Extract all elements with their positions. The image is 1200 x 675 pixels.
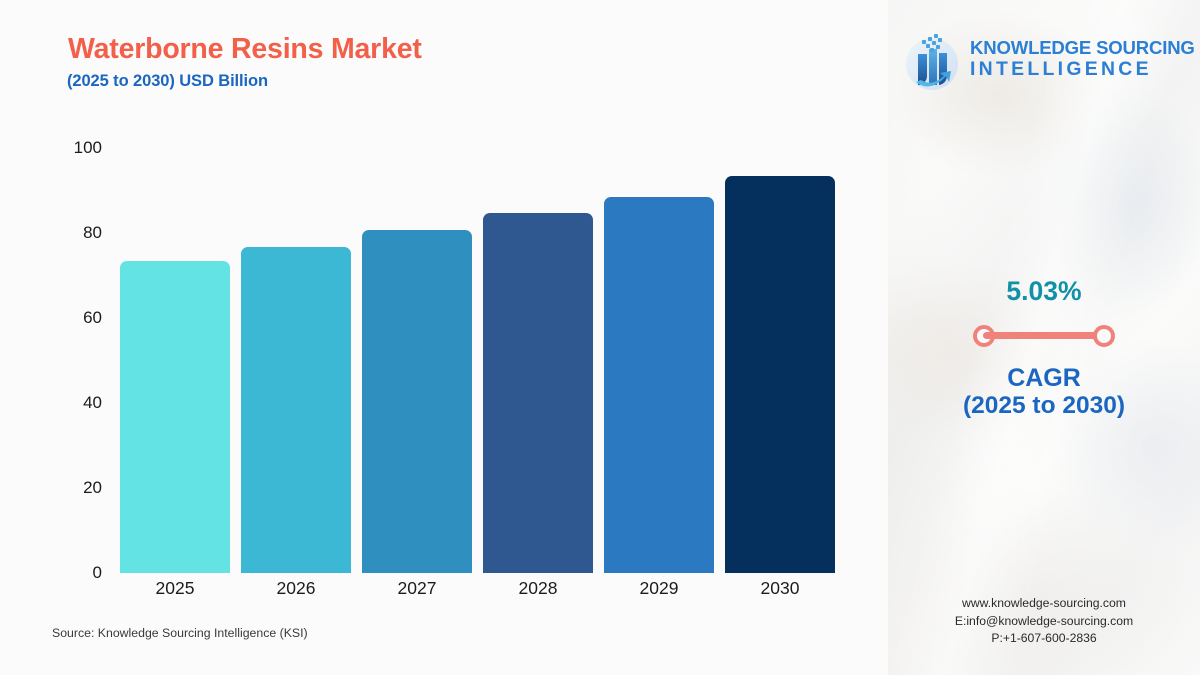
brand-name-line1: KNOWLEDGE SOURCING — [970, 38, 1192, 59]
x-axis-tick-label: 2028 — [483, 578, 593, 599]
chart-panel: Waterborne Resins Market (2025 to 2030) … — [0, 0, 888, 675]
infographic-canvas: Waterborne Resins Market (2025 to 2030) … — [0, 0, 1200, 675]
brand-name: KNOWLEDGE SOURCING INTELLIGENCE — [970, 38, 1192, 81]
brand-panel: KNOWLEDGE SOURCING INTELLIGENCE 5.03% CA… — [888, 0, 1200, 675]
bar — [604, 197, 714, 573]
x-axis-tick-label: 2026 — [241, 578, 351, 599]
x-axis-tick-label: 2027 — [362, 578, 472, 599]
bar — [120, 261, 230, 573]
brand-logo: KNOWLEDGE SOURCING INTELLIGENCE — [900, 28, 1192, 100]
cagr-block: 5.03% CAGR (2025 to 2030) — [888, 278, 1200, 420]
y-axis-tick-label: 0 — [42, 563, 102, 583]
x-axis-tick-label: 2029 — [604, 578, 714, 599]
brand-name-line2: INTELLIGENCE — [970, 59, 1192, 81]
bar — [725, 176, 835, 573]
y-axis-tick-label: 80 — [42, 223, 102, 243]
contact-block: www.knowledge-sourcing.com E:info@knowle… — [888, 595, 1200, 648]
x-axis-tick-label: 2025 — [120, 578, 230, 599]
cagr-value: 5.03% — [888, 278, 1200, 305]
bar — [483, 213, 593, 573]
y-axis-tick-label: 20 — [42, 478, 102, 498]
contact-email[interactable]: E:info@knowledge-sourcing.com — [888, 613, 1200, 631]
connector-dot-right — [1093, 325, 1115, 347]
contact-website[interactable]: www.knowledge-sourcing.com — [888, 595, 1200, 613]
y-axis-tick-label: 40 — [42, 393, 102, 413]
contact-phone: P:+1-607-600-2836 — [888, 630, 1200, 648]
y-axis: 020406080100 — [42, 0, 102, 675]
bar-chart-plot: 020406080100 202520262027202820292030 — [0, 0, 888, 675]
knowledge-sourcing-logo-icon — [900, 30, 964, 94]
y-axis-tick-label: 60 — [42, 308, 102, 328]
cagr-period: (2025 to 2030) — [888, 391, 1200, 420]
bar — [362, 230, 472, 573]
source-note: Source: Knowledge Sourcing Intelligence … — [52, 626, 308, 640]
bar — [241, 247, 351, 573]
cagr-label: CAGR — [888, 365, 1200, 391]
connector-bar — [983, 332, 1105, 339]
x-axis-tick-label: 2030 — [725, 578, 835, 599]
dumbbell-connector-icon — [973, 325, 1115, 347]
y-axis-tick-label: 100 — [42, 138, 102, 158]
